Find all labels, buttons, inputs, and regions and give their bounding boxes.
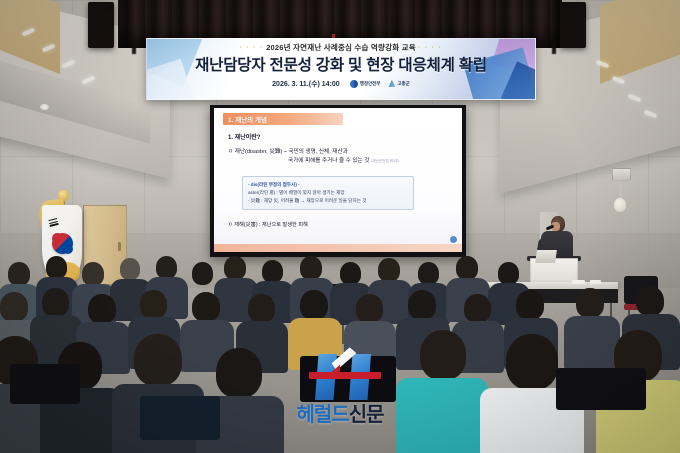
herald-wordmark: 헤럴드신문 bbox=[288, 404, 392, 426]
etymology-line: aster(라틴 별) : 별이 배열이 맞지 않아 생기는 재앙 bbox=[248, 189, 408, 197]
county-emblem-mark bbox=[388, 80, 395, 87]
slide-definition-line1: ㅇ 재난(disaster, 災難) – 국민의 생명, 신체, 재산과 bbox=[228, 149, 348, 155]
slide-closing-line: ㅇ 재해(災害) : 재난으로 발생한 피해 bbox=[228, 221, 452, 228]
foreground-chair bbox=[10, 364, 80, 404]
slide-definition: ㅇ 재난(disaster, 災難) – 국민의 생명, 신체, 재산과 국가에… bbox=[228, 148, 452, 166]
county-emblem-icon: 고흥군 bbox=[388, 80, 409, 87]
gov-emblem-label: 행정안전부 bbox=[360, 81, 381, 87]
podium-laptop bbox=[535, 250, 557, 263]
ceiling-downlight bbox=[40, 104, 49, 110]
slide-question: 1. 재난이란? bbox=[228, 132, 452, 141]
wall-speaker bbox=[612, 168, 631, 181]
etymology-line: - 災難 : 재앙 災, 어려울 難 → 재앙으로 어려운 일을 당하는 것 bbox=[248, 197, 408, 205]
banner-footer: 2026. 3. 11.(수) 14:00 행정안전부 고흥군 bbox=[147, 79, 535, 89]
gov-emblem-icon: 행정안전부 bbox=[350, 80, 381, 88]
wall-pendant-light bbox=[614, 198, 626, 212]
gov-emblem-mark bbox=[350, 80, 358, 88]
slide-definition-line2-text: 국가에 피해를 주거나 줄 수 있는 것 bbox=[288, 158, 369, 164]
taeguk-blue-lobe bbox=[63, 244, 74, 255]
slide-page-marker bbox=[450, 236, 457, 243]
banner-dots-left: · · · · bbox=[240, 43, 264, 54]
etymology-line: - dis(라틴 부정의 접두사) - bbox=[248, 181, 408, 189]
banner-subtitle: 2026년 자연재난 사례중심 수습 역량강화 교육 bbox=[266, 43, 416, 52]
herald-wordmark-part1: 헤럴드 bbox=[296, 404, 348, 426]
county-emblem-label: 고흥군 bbox=[397, 81, 409, 87]
foreground-chair bbox=[556, 368, 646, 410]
herald-news-watermark: 헤럴드신문 bbox=[288, 352, 392, 428]
paper-on-table bbox=[572, 280, 585, 284]
slide-header-title: 1. 재난의 개념 bbox=[228, 114, 267, 124]
banner-datetime: 2026. 3. 11.(수) 14:00 bbox=[272, 79, 340, 89]
slide-header-bar: 1. 재난의 개념 bbox=[223, 113, 343, 125]
slide-footer-bar bbox=[214, 244, 462, 252]
slide-etymology-box: - dis(라틴 부정의 접두사) - aster(라틴 별) : 별이 배열이… bbox=[242, 176, 414, 210]
projection-screen: 1. 재난의 개념 1. 재난이란? ㅇ 재난(disaster, 災難) – … bbox=[210, 105, 466, 257]
presentation-slide: 1. 재난의 개념 1. 재난이란? ㅇ 재난(disaster, 災難) – … bbox=[214, 108, 462, 252]
paper-on-table bbox=[590, 280, 601, 284]
banner-subtitle-row: · · · · 2026년 자연재난 사례중심 수습 역량강화 교육 · · ·… bbox=[147, 42, 535, 54]
slide-definition-note: (재난안전법 제3조) bbox=[371, 159, 400, 163]
lecture-hall-photo: · · · · 2026년 자연재난 사례중심 수습 역량강화 교육 · · ·… bbox=[0, 0, 680, 453]
door-handle bbox=[118, 242, 121, 251]
taeguk-red-lobe bbox=[52, 233, 63, 244]
herald-h-logo-icon bbox=[288, 352, 392, 400]
foreground-chair bbox=[140, 396, 220, 440]
herald-wordmark-part2: 신문 bbox=[349, 404, 384, 426]
banner-dots-right: · · · · bbox=[418, 43, 442, 54]
banner-title: 재난담당자 전문성 강화 및 현장 대응체계 확립 bbox=[147, 55, 535, 77]
ceiling-speaker-left bbox=[88, 2, 114, 48]
event-banner: · · · · 2026년 자연재난 사례중심 수습 역량강화 교육 · · ·… bbox=[146, 38, 536, 100]
banner-logo-group: 행정안전부 고흥군 bbox=[350, 80, 410, 88]
slide-definition-line2: 국가에 피해를 주거나 줄 수 있는 것 (재난안전법 제3조) bbox=[228, 157, 452, 166]
ceiling-speaker-right bbox=[560, 2, 586, 48]
slide-body: 1. 재난이란? ㅇ 재난(disaster, 災難) – 국민의 생명, 신체… bbox=[228, 132, 452, 228]
herald-logo-crossbar bbox=[309, 372, 381, 379]
